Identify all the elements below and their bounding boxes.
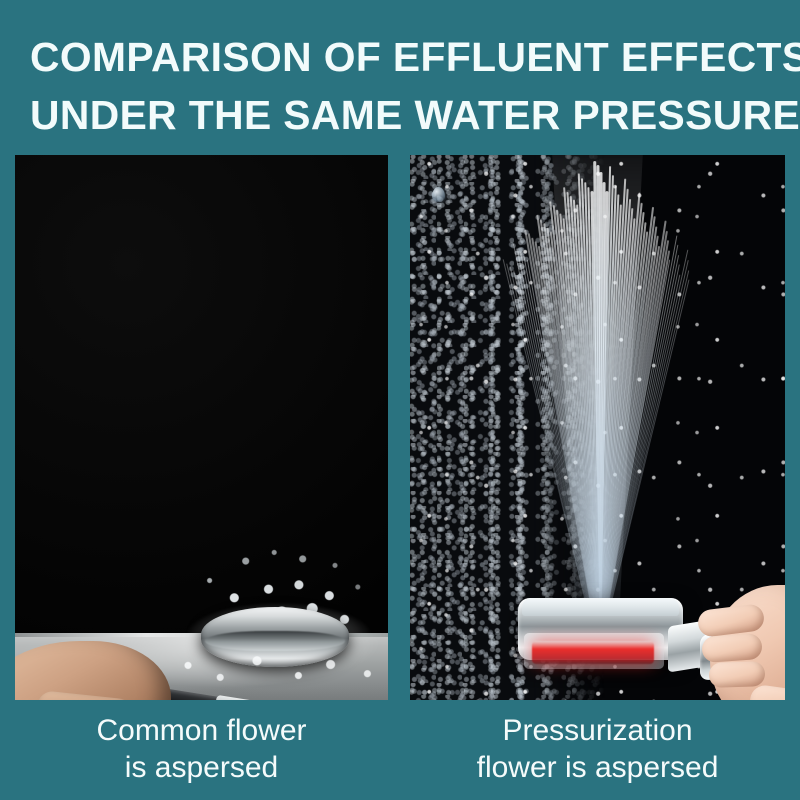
title-line-2: UNDER THE SAME WATER PRESSURE bbox=[30, 86, 774, 144]
caption-right: Pressurization flower is aspersed bbox=[410, 712, 785, 786]
right-hand-finger-3 bbox=[709, 661, 766, 688]
title-line-1: COMPARISON OF EFFLUENT EFFECTS bbox=[30, 28, 774, 86]
left-surface-droplets bbox=[165, 647, 388, 693]
caption-left-line-1: Common flower bbox=[15, 712, 388, 749]
right-pressurized-water-jet bbox=[448, 155, 748, 619]
caption-right-line-2: flower is aspersed bbox=[410, 749, 785, 786]
caption-left: Common flower is aspersed bbox=[15, 712, 388, 786]
poster-title: COMPARISON OF EFFLUENT EFFECTS UNDER THE… bbox=[30, 28, 778, 144]
caption-left-line-2: is aspersed bbox=[15, 749, 388, 786]
right-red-led-indicator bbox=[532, 641, 654, 664]
caption-right-line-1: Pressurization bbox=[410, 712, 785, 749]
product-comparison-poster: COMPARISON OF EFFLUENT EFFECTS UNDER THE… bbox=[0, 0, 800, 800]
right-hand-finger-2 bbox=[701, 633, 763, 663]
right-large-water-droplet bbox=[432, 187, 445, 202]
right-shower-head-face bbox=[522, 598, 679, 616]
comparison-panel-right bbox=[410, 155, 785, 700]
comparison-panel-left bbox=[15, 155, 388, 700]
